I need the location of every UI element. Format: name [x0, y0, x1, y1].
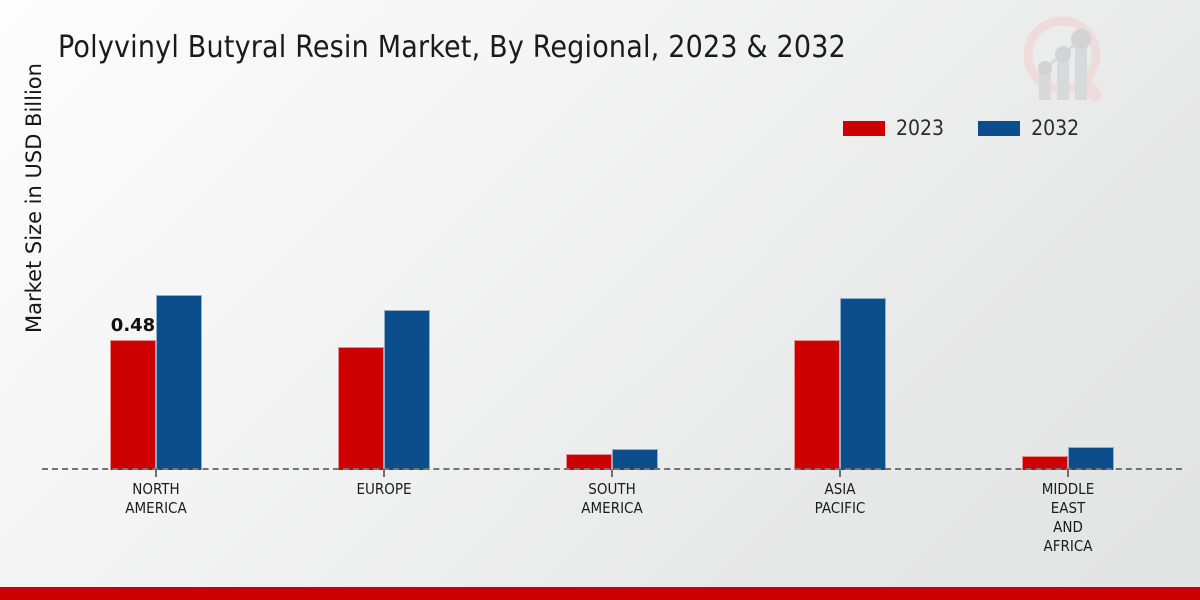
bar-group-middle-east-and-africa: [954, 150, 1182, 470]
bar-2032-north-america[interactable]: [156, 295, 202, 470]
x-tick-label: MIDDLE EAST AND AFRICA: [1042, 480, 1094, 556]
x-tick-asia-pacific: ASIA PACIFIC: [726, 470, 954, 580]
x-tick-label: EUROPE: [356, 480, 411, 499]
bar-2023-asia-pacific[interactable]: [794, 340, 840, 470]
bar-2032-europe[interactable]: [384, 310, 430, 470]
bar-pair: [794, 298, 886, 470]
bar-value-label: 0.48: [111, 315, 155, 336]
bar-2032-middle-east-and-africa[interactable]: [1068, 447, 1114, 470]
x-tick-north-america: NORTH AMERICA: [42, 470, 270, 580]
x-tick-europe: EUROPE: [270, 470, 498, 580]
tick-mark: [611, 470, 613, 477]
x-tick-label: NORTH AMERICA: [125, 480, 186, 518]
x-tick-label: ASIA PACIFIC: [815, 480, 866, 518]
tick-mark: [839, 470, 841, 477]
footer-accent-bar: [0, 587, 1200, 600]
x-tick-label: SOUTH AMERICA: [581, 480, 642, 518]
legend-item-2032[interactable]: 2032: [978, 118, 1079, 139]
bar-group-europe: [270, 150, 498, 470]
tick-mark: [1067, 470, 1069, 477]
bar-group-north-america: 0.48: [42, 150, 270, 470]
bar-2023-europe[interactable]: [338, 347, 384, 470]
bar-pair: [338, 310, 430, 470]
chart-title: Polyvinyl Butyral Resin Market, By Regio…: [58, 30, 846, 65]
bar-2032-asia-pacific[interactable]: [840, 298, 886, 470]
bar-2023-north-america[interactable]: 0.48: [110, 340, 156, 470]
tick-mark: [155, 470, 157, 477]
watermark-logo: [1010, 8, 1120, 113]
bar-pair: [566, 449, 658, 470]
bar-pair: 0.48: [110, 295, 202, 470]
legend-swatch-2023: [843, 121, 885, 136]
legend-swatch-2032: [978, 121, 1020, 136]
legend-label-2023: 2023: [896, 118, 944, 139]
bar-group-asia-pacific: [726, 150, 954, 470]
bar-groups: 0.48: [42, 150, 1182, 470]
tick-mark: [383, 470, 385, 477]
bar-group-south-america: [498, 150, 726, 470]
x-tick-south-america: SOUTH AMERICA: [498, 470, 726, 580]
chart-container: Polyvinyl Butyral Resin Market, By Regio…: [0, 0, 1200, 600]
legend-item-2023[interactable]: 2023: [843, 118, 944, 139]
x-tick-middle-east-and-africa: MIDDLE EAST AND AFRICA: [954, 470, 1182, 580]
x-axis-labels: NORTH AMERICA EUROPE SOUTH AMERICA ASIA …: [42, 470, 1182, 580]
bar-2032-south-america[interactable]: [612, 449, 658, 470]
plot-area: 0.48: [42, 150, 1182, 470]
chart-legend: 2023 2032: [843, 118, 1079, 139]
legend-label-2032: 2032: [1031, 118, 1079, 139]
bar-pair: [1022, 447, 1114, 470]
